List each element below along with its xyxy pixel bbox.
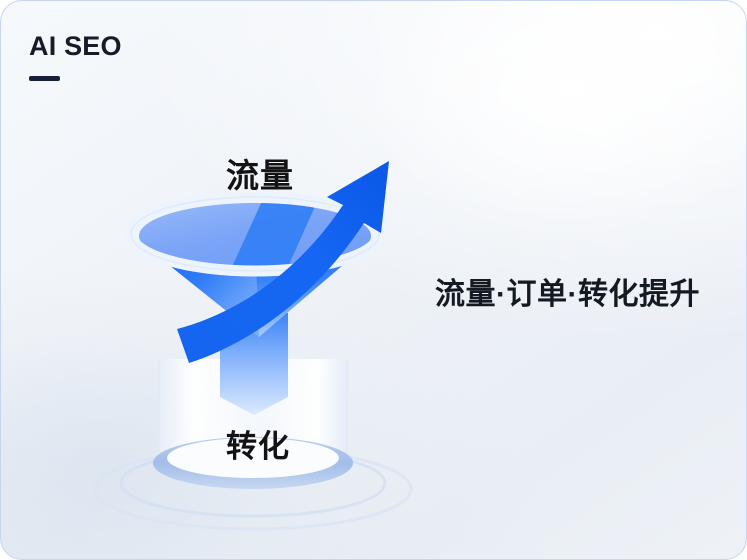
illustration-card: AI SEO 流量·订单·转化提升 <box>0 0 747 560</box>
header: AI SEO <box>29 33 122 81</box>
label-traffic: 流量 <box>226 159 294 192</box>
page-title: AI SEO <box>29 33 122 60</box>
title-underline-rule <box>29 76 60 81</box>
funnel-illustration: 流量 转化 <box>81 101 441 531</box>
label-conversion: 转化 <box>226 431 290 462</box>
tagline-text: 流量·订单·转化提升 <box>435 278 700 313</box>
